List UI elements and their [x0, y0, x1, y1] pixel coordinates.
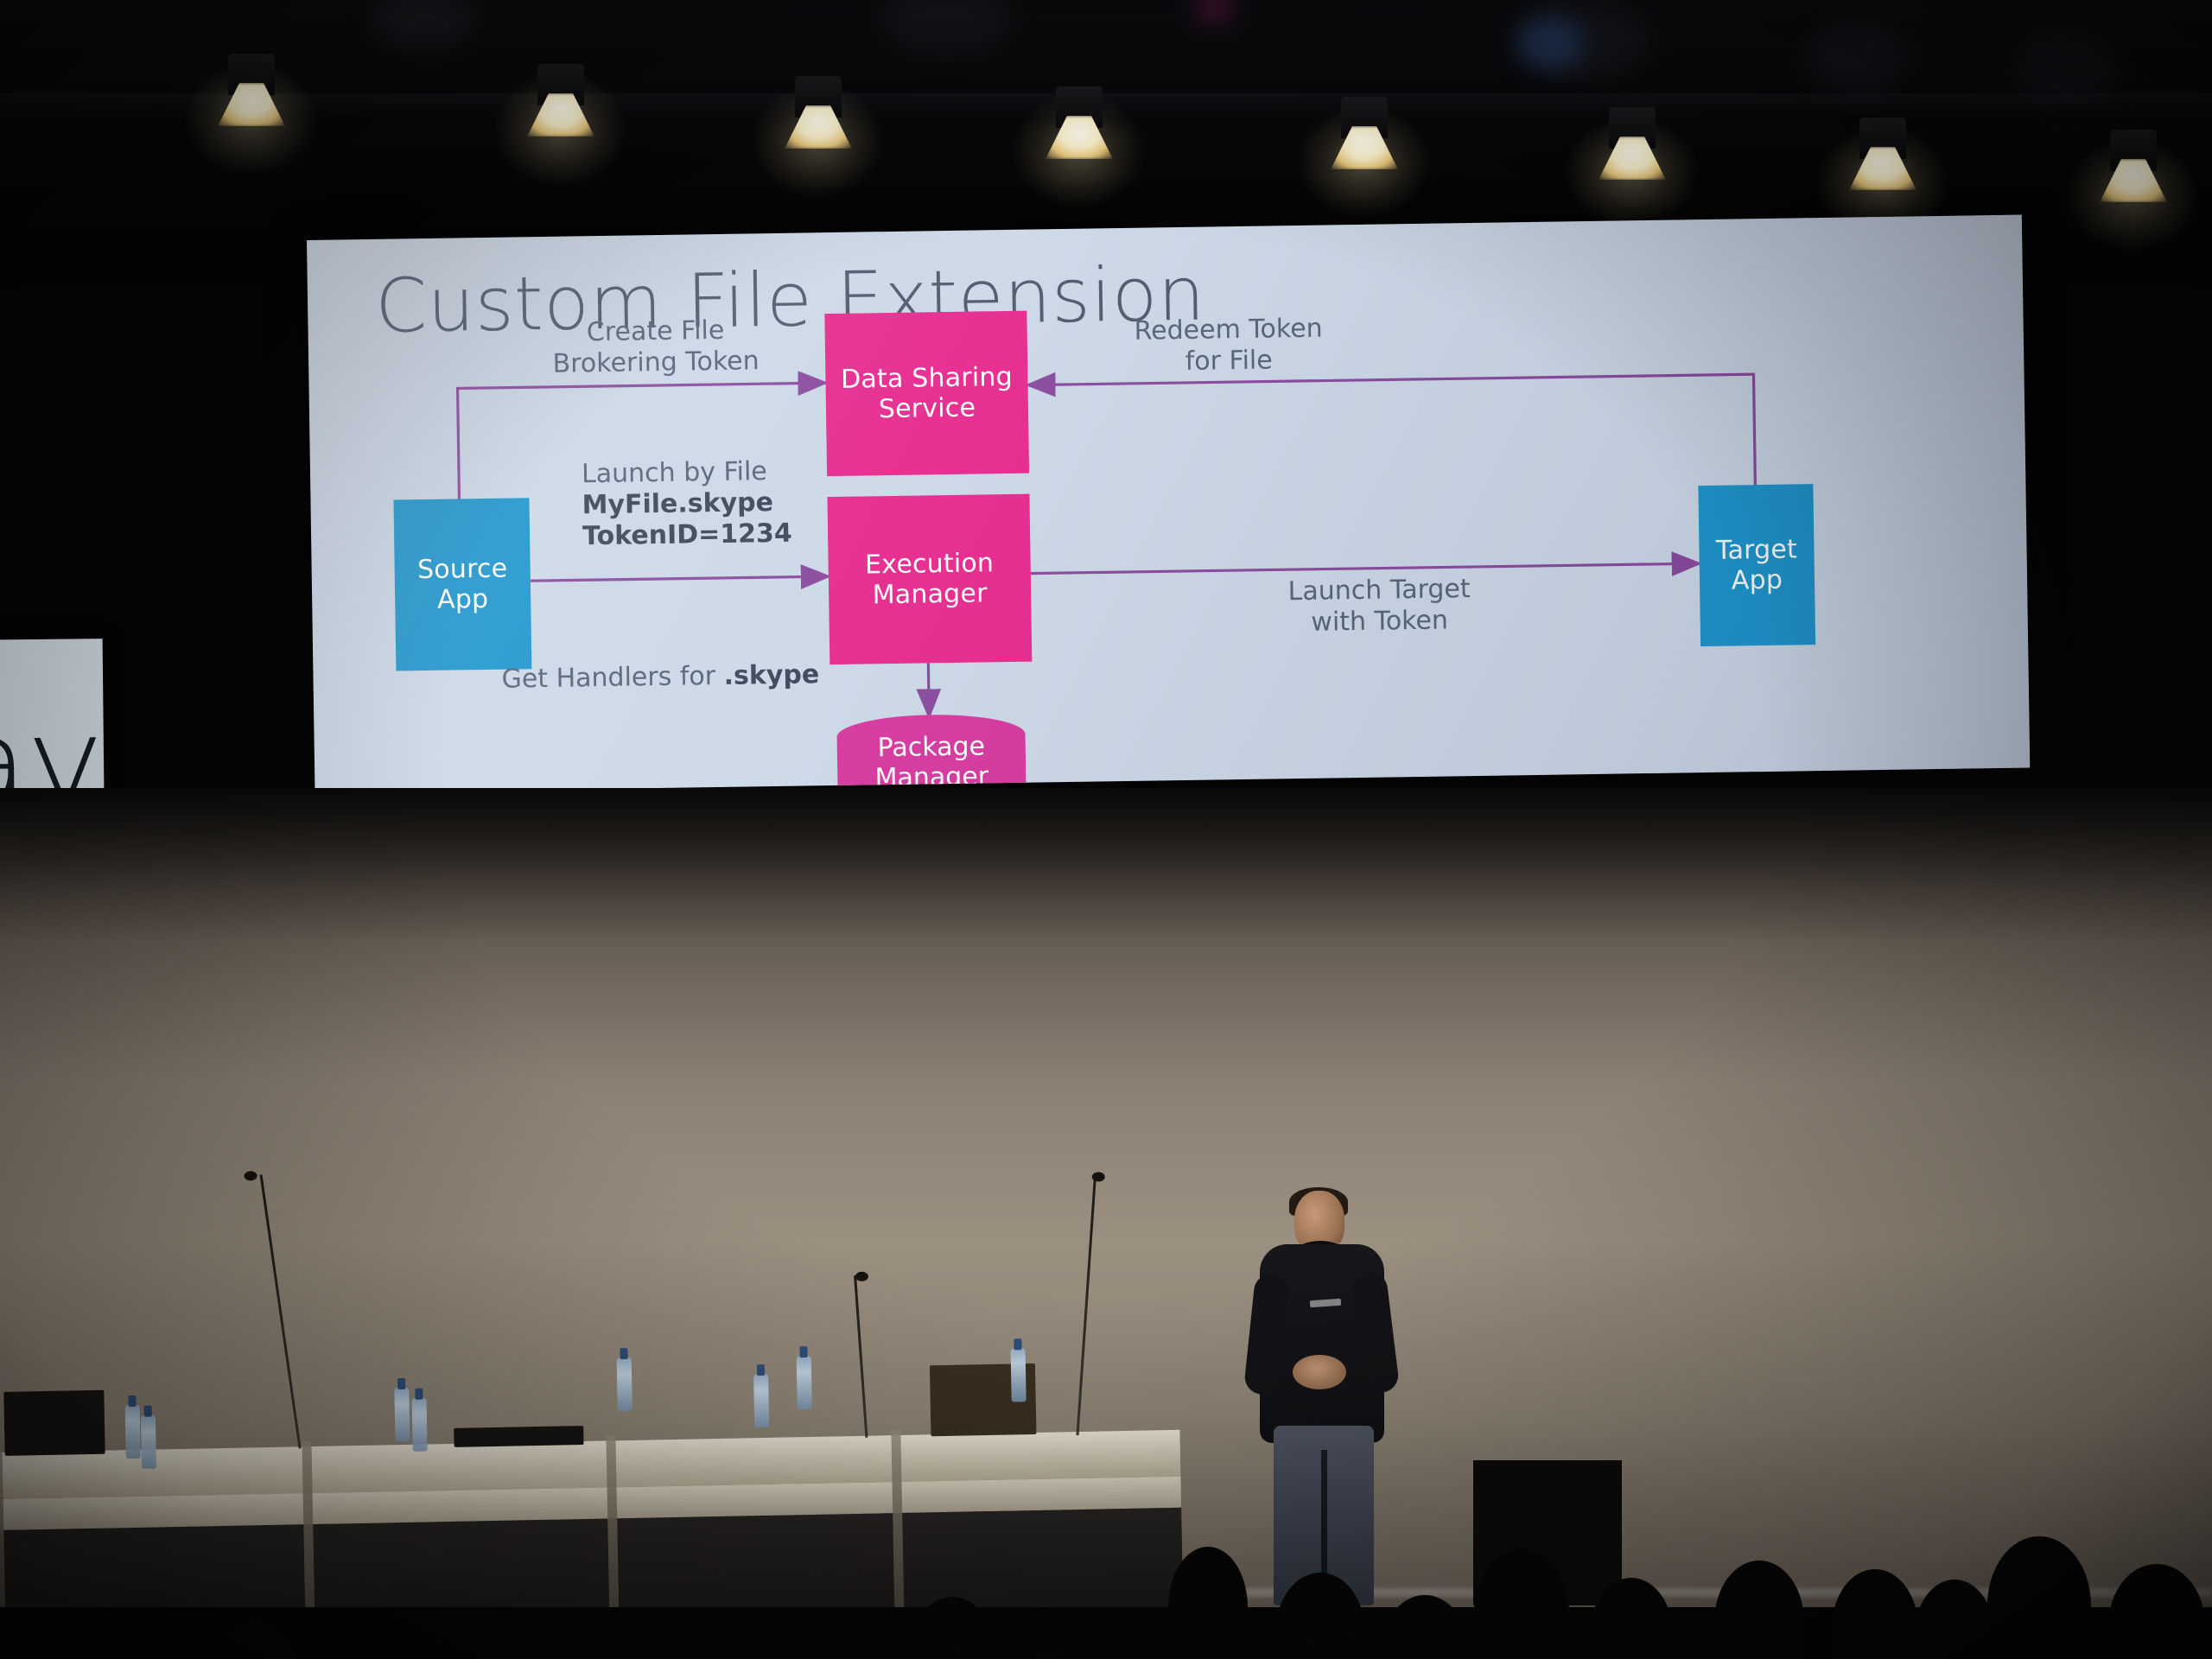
- spotlight: [209, 54, 292, 133]
- spotlight: [2091, 130, 2174, 209]
- node-label-line1: Source: [417, 553, 508, 585]
- spotlight: [1037, 86, 1120, 166]
- spotlight: [1322, 97, 1405, 176]
- node-data-sharing-service: Data Sharing Service: [824, 311, 1029, 476]
- node-label-line1: Data Sharing: [841, 362, 1013, 395]
- edge-label-line1: Launch Target: [1224, 573, 1535, 608]
- water-bottle: [141, 1415, 156, 1469]
- node-label-line2: Manager: [872, 578, 987, 610]
- presenter: [1236, 1191, 1417, 1605]
- water-bottle: [125, 1405, 141, 1459]
- conference-stage-photo: ays Custom File Extension: [0, 0, 2212, 1659]
- edge-label-line2: Brokering Token: [500, 345, 811, 380]
- spotlight: [1590, 107, 1673, 187]
- water-bottle: [412, 1398, 428, 1452]
- node-label-line2: Service: [879, 393, 976, 425]
- node-label-line2: App: [437, 584, 489, 615]
- projection-screen: Custom File Extension: [307, 215, 2030, 793]
- edge-label-prefix: Get Handlers for: [501, 661, 724, 695]
- node-label-line1: Package: [877, 731, 985, 763]
- edge-label-line1: Create File: [499, 314, 810, 349]
- edge-label-line1: Launch by File: [582, 455, 858, 491]
- edge-label-redeem-token: Redeem Token for File: [1064, 312, 1393, 379]
- ceiling-panel-blue: [1516, 17, 1584, 69]
- edge-label-launch-target: Launch Target with Token: [1224, 573, 1535, 639]
- edge-label-extension: .skype: [723, 659, 819, 691]
- edge-label-filename: MyFile.skype: [582, 486, 858, 522]
- node-target-app: Target App: [1698, 484, 1815, 646]
- presenter-hands: [1293, 1355, 1346, 1389]
- water-bottle: [753, 1374, 769, 1427]
- edge-label-launch-by-file: Launch by File MyFile.skype TokenID=1234: [582, 455, 860, 553]
- node-label-line1: Execution: [865, 548, 995, 581]
- node-label-line1: Target: [1716, 534, 1798, 566]
- node-label-line2: App: [1732, 565, 1783, 596]
- laptop: [454, 1426, 583, 1447]
- ceiling-magenta-glint: [1197, 0, 1231, 22]
- edge-label-tokenid: TokenID=1234: [582, 518, 859, 553]
- edge-label-line1: Redeem Token: [1064, 312, 1392, 348]
- laptop: [3, 1390, 105, 1456]
- spotlight: [518, 64, 601, 143]
- ceiling-smudge: [1806, 24, 1910, 92]
- spotlight: [776, 76, 859, 156]
- node-source-app: Source App: [393, 498, 531, 671]
- audience-head: [1168, 1547, 1248, 1659]
- stage-wall-shadow: [0, 788, 2212, 944]
- water-bottle: [797, 1356, 812, 1409]
- flow-diagram: Data Sharing Service Source App Executio…: [307, 215, 2030, 793]
- water-bottle: [617, 1357, 632, 1411]
- water-bottle: [1011, 1348, 1027, 1402]
- spotlight: [1840, 118, 1923, 197]
- node-package-manager: Package Manager: [836, 714, 1027, 793]
- water-bottle: [394, 1388, 410, 1441]
- ceiling-smudge: [2013, 35, 2117, 102]
- ceiling-smudge: [881, 0, 1011, 54]
- edge-label-create-token: Create File Brokering Token: [499, 314, 811, 380]
- edge-label-line2: for File: [1065, 343, 1393, 379]
- ceiling-smudge: [372, 0, 475, 48]
- edge-label-line2: with Token: [1224, 604, 1535, 639]
